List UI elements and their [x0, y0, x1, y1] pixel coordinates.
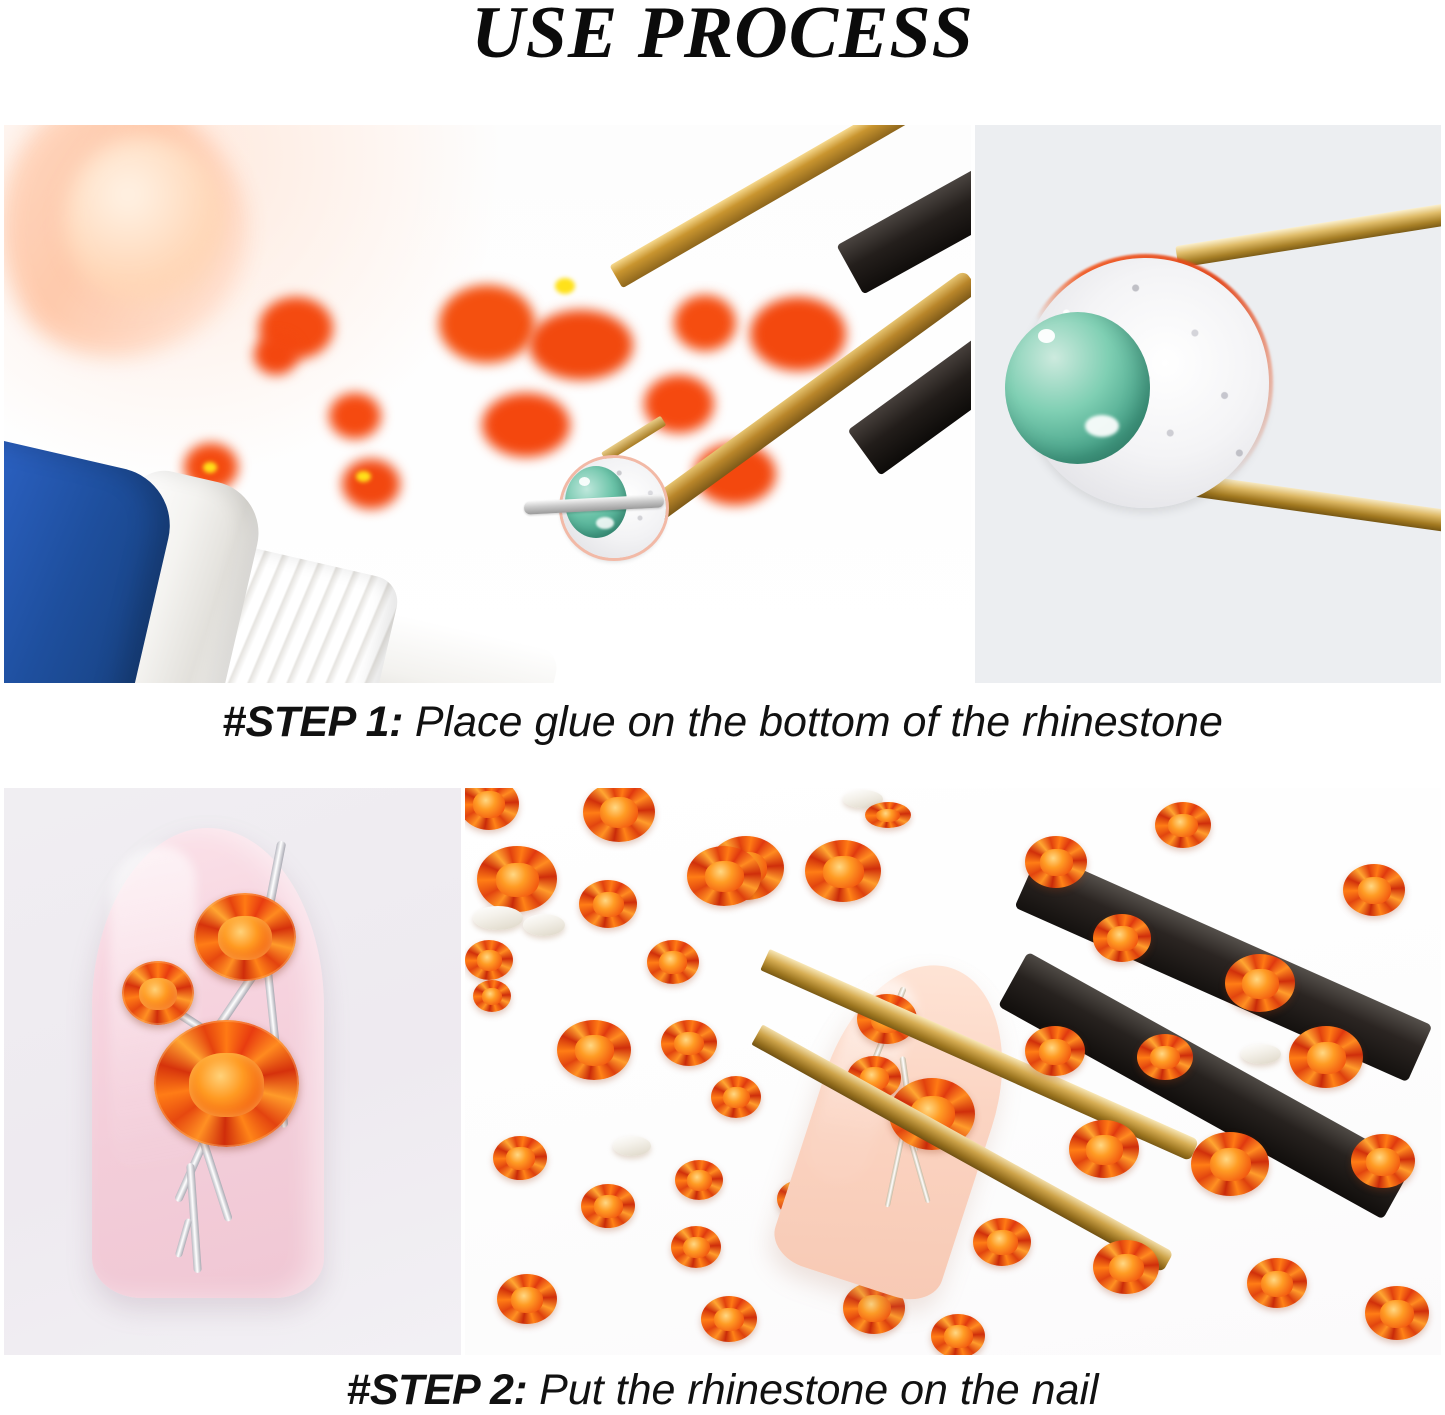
step-2-caption: #STEP 2: Put the rhinestone on the nail — [0, 1366, 1445, 1415]
rhinestone-gem — [687, 846, 761, 906]
rhinestone-gem — [1093, 1240, 1159, 1294]
rhinestone-gem — [661, 1020, 717, 1066]
blurred-rhinestone — [329, 393, 381, 439]
glue-application-photo: D R — [4, 125, 971, 683]
rhinestone-gem — [1247, 1258, 1307, 1308]
rhinestone-gem — [647, 940, 699, 984]
rhinestone-gem — [493, 1136, 547, 1180]
rhinestone-highlight — [356, 471, 371, 482]
step-1-caption: #STEP 1: Place glue on the bottom of the… — [0, 698, 1445, 747]
rhinestone-gem — [497, 1274, 557, 1324]
blurred-rhinestone — [750, 297, 846, 371]
glue-highlight — [596, 517, 614, 529]
rhinestone-gem — [865, 802, 911, 828]
rhinestone-gem — [675, 1160, 723, 1200]
glue-highlight — [1085, 415, 1119, 437]
rhinestone-flat-back — [473, 906, 523, 930]
rhinestone-gem — [473, 980, 511, 1012]
rhinestone-gem — [1069, 1120, 1139, 1178]
rhinestone-gem-rim — [122, 961, 194, 1025]
step-1-text: Place glue on the bottom of the rhinesto… — [403, 698, 1223, 746]
rhinestone-flat-back — [613, 1136, 651, 1156]
blurred-rhinestone — [439, 285, 535, 363]
rhinestone-gem — [465, 940, 513, 980]
rhinestone-gem — [581, 1184, 635, 1228]
step-2-image-row — [4, 788, 1441, 1355]
blurred-rhinestone — [342, 459, 400, 509]
rhinestone-gem — [711, 1076, 761, 1118]
tweezer-grip-upper — [836, 129, 971, 294]
rhinestone-gem — [973, 1218, 1031, 1266]
step-2-text: Put the rhinestone on the nail — [527, 1366, 1098, 1414]
blurred-rhinestone — [254, 335, 298, 375]
rhinestone-gem — [1025, 1026, 1085, 1076]
rhinestone-gem — [1365, 1286, 1429, 1340]
step-1-label: #STEP 1: — [222, 698, 403, 746]
glue-highlight — [579, 477, 590, 486]
rhinestone-gem — [671, 1226, 721, 1268]
rhinestone-gem — [1093, 914, 1151, 962]
blurred-rhinestone — [529, 310, 633, 380]
rhinestone-flat-back — [1241, 1044, 1281, 1064]
rhinestone-gem — [1191, 1132, 1269, 1196]
step-1-image-row: D R — [4, 125, 1441, 683]
page-title: USE PROCESS — [0, 0, 1445, 70]
placing-rhinestone-photo — [465, 788, 1441, 1355]
rhinestone-gem — [583, 788, 655, 842]
rhinestone-gem — [701, 1296, 757, 1342]
blurred-rhinestone — [482, 393, 570, 457]
rhinestone-gem — [477, 846, 557, 912]
glue-drop — [1005, 312, 1150, 464]
finished-nail-photo — [4, 788, 461, 1355]
rhinestone-gem — [557, 1020, 631, 1080]
rhinestone-gem — [579, 880, 637, 928]
rhinestone-gem — [1025, 836, 1087, 888]
rhinestone-gem-rim — [154, 1020, 299, 1147]
blurred-rhinestone — [674, 295, 736, 351]
rhinestone-highlight — [555, 278, 575, 294]
tweezer-tip — [601, 416, 666, 462]
rhinestone-gem — [1155, 802, 1211, 848]
rhinestone-gem — [1343, 864, 1405, 916]
infographic-page: USE PROCESS — [0, 0, 1445, 1412]
rhinestone-gem — [1289, 1026, 1363, 1088]
blurred-nail-glow — [64, 135, 224, 305]
rhinestone-closeup-photo — [975, 125, 1441, 683]
rhinestone-gem — [465, 788, 519, 830]
step-2-label: #STEP 2: — [346, 1366, 527, 1414]
rhinestone-gem — [931, 1314, 985, 1355]
rhinestone-gem-rim — [194, 893, 296, 981]
rhinestone-gem — [1351, 1134, 1415, 1188]
rhinestone-flat-back — [523, 914, 565, 936]
rhinestone-gem — [805, 840, 881, 902]
glue-highlight — [1038, 329, 1055, 343]
rhinestone-gem — [1137, 1034, 1193, 1080]
rhinestone-gem — [1225, 954, 1295, 1012]
